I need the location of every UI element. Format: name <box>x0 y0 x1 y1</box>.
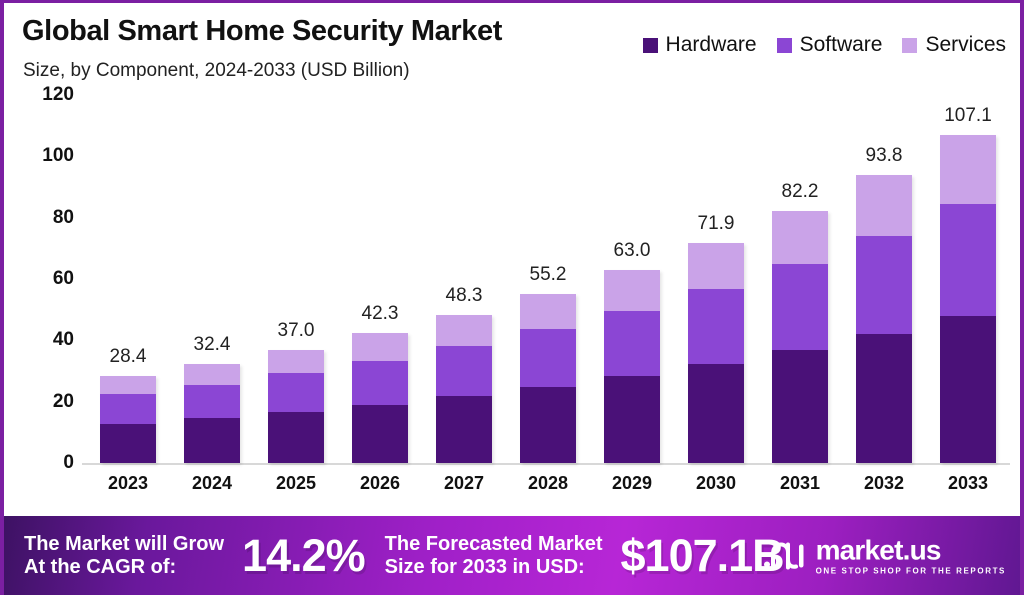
bar-segment-services[interactable] <box>184 364 240 385</box>
page-subtitle: Size, by Component, 2024-2033 (USD Billi… <box>23 60 410 82</box>
x-axis-tick: 2031 <box>770 473 830 494</box>
x-axis-tick: 2032 <box>854 473 914 494</box>
bar-segment-hardware[interactable] <box>352 405 408 463</box>
bar-segment-hardware[interactable] <box>772 350 828 463</box>
logo-tagline: ONE STOP SHOP FOR THE REPORTS <box>816 567 1006 575</box>
bar-value-label: 37.0 <box>278 320 315 342</box>
y-axis-tick: 100 <box>42 145 74 167</box>
stacked-bar[interactable] <box>940 135 996 463</box>
market-us-logo[interactable]: market.us ONE STOP SHOP FOR THE REPORTS <box>763 536 1006 575</box>
bar-segment-software[interactable] <box>856 236 912 334</box>
y-axis-tick: 40 <box>53 329 74 351</box>
bar-segment-hardware[interactable] <box>856 334 912 463</box>
bar-value-label: 107.1 <box>944 105 992 127</box>
bar-segment-software[interactable] <box>940 204 996 316</box>
y-axis: 020406080100120 <box>4 95 82 467</box>
legend-label: Hardware <box>666 33 757 57</box>
stacked-bar[interactable] <box>100 376 156 463</box>
bar-segment-services[interactable] <box>268 350 324 374</box>
legend-item-hardware[interactable]: Hardware <box>643 33 757 57</box>
bar-segment-services[interactable] <box>352 333 408 360</box>
bar-segment-software[interactable] <box>184 385 240 419</box>
bar-segment-software[interactable] <box>352 361 408 405</box>
bar-segment-hardware[interactable] <box>436 396 492 463</box>
stacked-bar[interactable] <box>688 243 744 463</box>
y-axis-tick: 0 <box>63 452 74 474</box>
chart-header: Global Smart Home Security Market Size, … <box>4 3 1024 95</box>
legend-swatch-hardware-icon <box>643 38 658 53</box>
bar-segment-hardware[interactable] <box>100 424 156 463</box>
y-axis-tick: 60 <box>53 268 74 290</box>
x-axis-tick: 2025 <box>266 473 326 494</box>
bar-column[interactable]: 37.0 <box>266 95 326 463</box>
bar-segment-hardware[interactable] <box>184 418 240 463</box>
legend-item-services[interactable]: Services <box>902 33 1006 57</box>
bar-value-label: 42.3 <box>362 303 399 325</box>
bar-segment-software[interactable] <box>604 311 660 377</box>
bar-value-label: 28.4 <box>110 346 147 368</box>
y-axis-tick: 20 <box>53 391 74 413</box>
bar-value-label: 93.8 <box>866 145 903 167</box>
footer-banner: The Market will GrowAt the CAGR of: 14.2… <box>4 516 1024 595</box>
bar-value-label: 63.0 <box>614 240 651 262</box>
bar-segment-hardware[interactable] <box>688 364 744 463</box>
chart-infographic: Global Smart Home Security Market Size, … <box>0 0 1024 595</box>
bar-segment-services[interactable] <box>940 135 996 204</box>
chart-plot-area: 020406080100120 28.432.437.042.348.355.2… <box>4 95 1024 517</box>
bar-value-label: 82.2 <box>782 181 819 203</box>
bar-value-label: 71.9 <box>698 213 735 235</box>
cagr-caption: The Market will GrowAt the CAGR of: <box>24 533 224 579</box>
stacked-bar[interactable] <box>520 294 576 463</box>
bar-segment-services[interactable] <box>688 243 744 289</box>
bar-value-label: 55.2 <box>530 264 567 286</box>
caption-line: The Forecasted Market <box>385 533 603 556</box>
bar-segment-software[interactable] <box>100 394 156 423</box>
bar-segment-hardware[interactable] <box>520 387 576 463</box>
stacked-bar[interactable] <box>184 364 240 463</box>
logo-name: market.us <box>816 536 1006 564</box>
forecast-value: $107.1B <box>621 530 784 582</box>
bar-column[interactable]: 107.1 <box>938 95 998 463</box>
x-axis-tick: 2027 <box>434 473 494 494</box>
bar-column[interactable]: 55.2 <box>518 95 578 463</box>
legend-swatch-software-icon <box>777 38 792 53</box>
bar-segment-software[interactable] <box>772 264 828 350</box>
x-axis-tick: 2033 <box>938 473 998 494</box>
stacked-bar[interactable] <box>436 315 492 463</box>
bar-column[interactable]: 48.3 <box>434 95 494 463</box>
bar-column[interactable]: 42.3 <box>350 95 410 463</box>
x-axis-line <box>82 463 1010 465</box>
bar-column[interactable]: 32.4 <box>182 95 242 463</box>
bar-column[interactable]: 28.4 <box>98 95 158 463</box>
legend-label: Software <box>800 33 883 57</box>
x-axis-tick: 2029 <box>602 473 662 494</box>
bar-segment-services[interactable] <box>100 376 156 394</box>
bar-segment-software[interactable] <box>688 289 744 364</box>
y-axis-tick: 120 <box>42 84 74 106</box>
x-axis: 2023202420252026202720282029203020312032… <box>86 473 1010 509</box>
bar-segment-hardware[interactable] <box>268 412 324 463</box>
bar-column[interactable]: 71.9 <box>686 95 746 463</box>
bar-segment-software[interactable] <box>436 346 492 396</box>
bar-column[interactable]: 93.8 <box>854 95 914 463</box>
bar-segment-hardware[interactable] <box>604 376 660 463</box>
stacked-bar[interactable] <box>856 175 912 463</box>
bar-value-label: 48.3 <box>446 285 483 307</box>
bar-segment-services[interactable] <box>436 315 492 346</box>
stacked-bar[interactable] <box>772 211 828 463</box>
forecast-caption: The Forecasted MarketSize for 2033 in US… <box>385 533 603 579</box>
bar-segment-software[interactable] <box>268 373 324 412</box>
x-axis-tick: 2023 <box>98 473 158 494</box>
legend-swatch-services-icon <box>902 38 917 53</box>
legend-item-software[interactable]: Software <box>777 33 883 57</box>
bar-segment-services[interactable] <box>520 294 576 330</box>
page-title: Global Smart Home Security Market <box>22 15 502 48</box>
bar-segment-services[interactable] <box>772 211 828 264</box>
bar-column[interactable]: 63.0 <box>602 95 662 463</box>
x-axis-tick: 2030 <box>686 473 746 494</box>
stacked-bar[interactable] <box>268 350 324 463</box>
chart-legend: HardwareSoftwareServices <box>643 33 1006 57</box>
logo-text-block: market.us ONE STOP SHOP FOR THE REPORTS <box>816 536 1006 575</box>
x-axis-tick: 2024 <box>182 473 242 494</box>
cagr-value: 14.2% <box>242 530 365 582</box>
bar-series-group: 28.432.437.042.348.355.263.071.982.293.8… <box>86 95 1010 463</box>
caption-line: The Market will Grow <box>24 533 224 556</box>
legend-label: Services <box>925 33 1006 57</box>
market-us-logo-icon <box>763 540 807 572</box>
stacked-bar[interactable] <box>352 333 408 463</box>
bar-segment-hardware[interactable] <box>940 316 996 464</box>
caption-line: Size for 2033 in USD: <box>385 556 603 579</box>
caption-line: At the CAGR of: <box>24 556 224 579</box>
bar-segment-services[interactable] <box>604 270 660 311</box>
y-axis-tick: 80 <box>53 207 74 229</box>
bar-column[interactable]: 82.2 <box>770 95 830 463</box>
x-axis-tick: 2028 <box>518 473 578 494</box>
bar-segment-software[interactable] <box>520 329 576 387</box>
bar-segment-services[interactable] <box>856 175 912 236</box>
stacked-bar[interactable] <box>604 270 660 463</box>
bar-value-label: 32.4 <box>194 334 231 356</box>
x-axis-tick: 2026 <box>350 473 410 494</box>
